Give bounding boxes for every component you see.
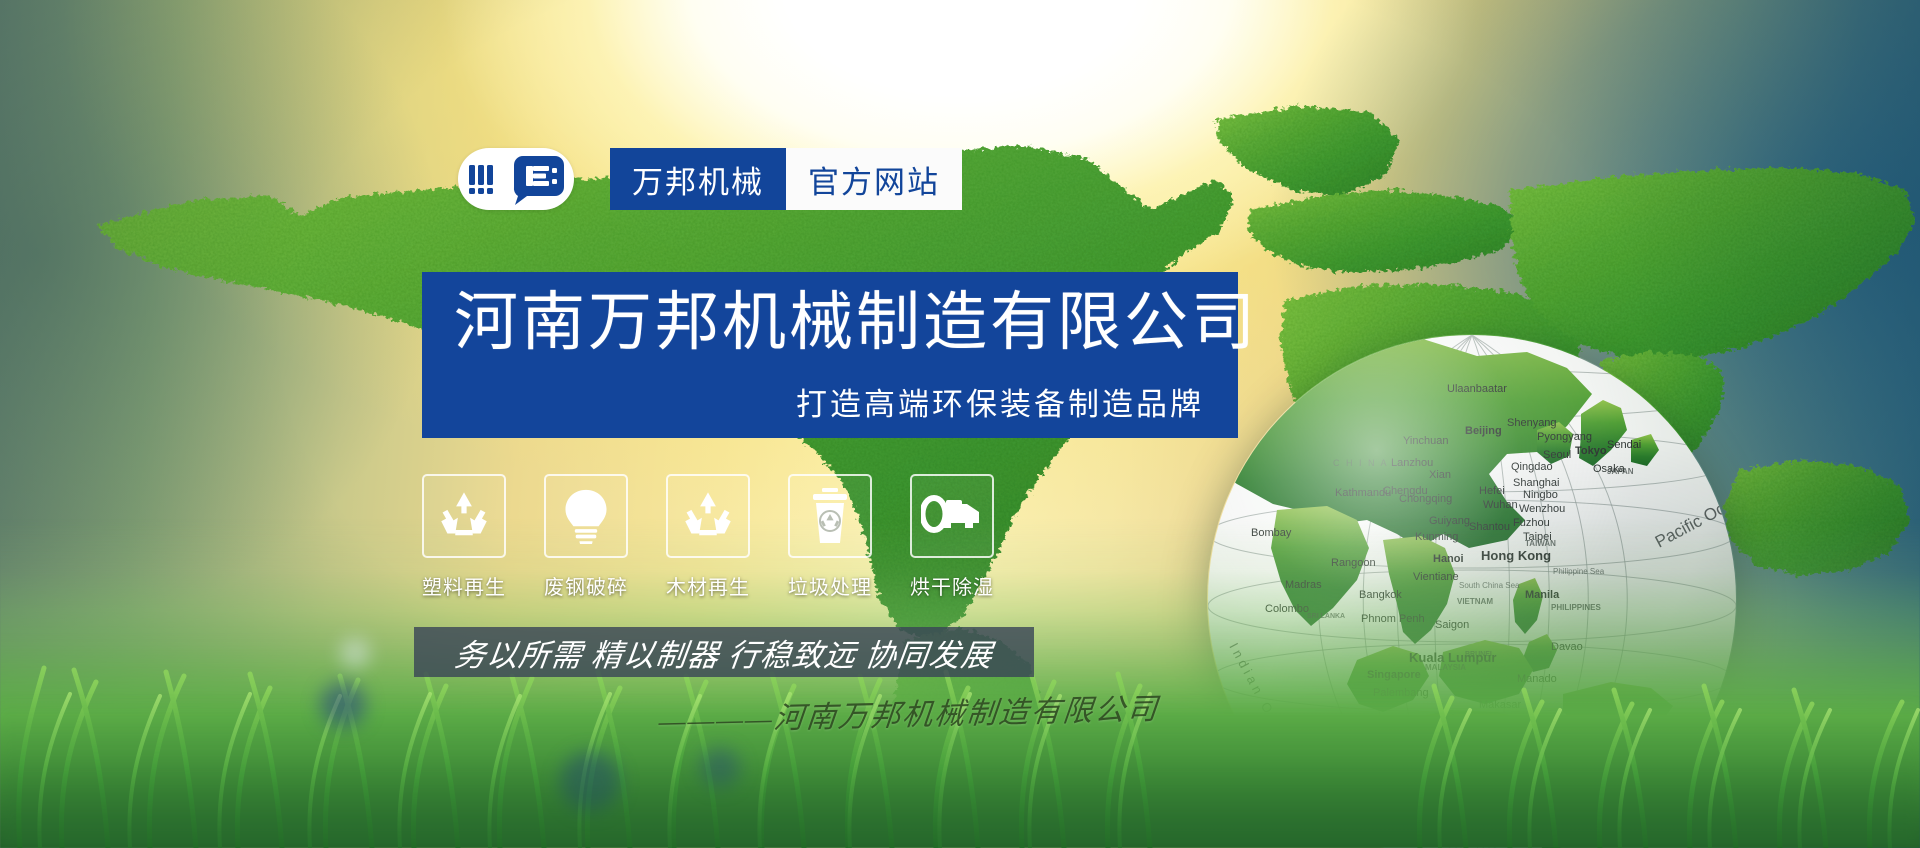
svg-text:Shanghai: Shanghai (1513, 477, 1560, 489)
brand-tabs: 万邦机械 官方网站 (610, 148, 962, 210)
trash-bin-recycle-icon (808, 487, 852, 545)
svg-text:C H I N A: C H I N A (1333, 458, 1389, 468)
svg-text:Yinchuan: Yinchuan (1403, 435, 1448, 447)
page-subtitle: 打造高端环保装备制造品牌 (796, 379, 1204, 424)
slogan-text: 务以所需 精以制器 行稳致远 协同发展 (452, 630, 996, 675)
svg-text:Osaka: Osaka (1593, 463, 1626, 475)
page-title: 河南万邦机械制造有限公司 (454, 288, 1258, 357)
svg-text:Pyongyang: Pyongyang (1537, 431, 1592, 443)
icon-frame (666, 474, 750, 558)
bokeh-dot (340, 638, 370, 668)
svg-text:Ulaanbaatar: Ulaanbaatar (1447, 383, 1507, 395)
icon-frame (544, 474, 628, 558)
hero-banner: Pacific Ocean Indian Ocean South China S… (0, 0, 1920, 848)
service-label: 垃圾处理 (788, 571, 872, 600)
svg-text:Hefei: Hefei (1479, 485, 1505, 497)
service-item-waste-treatment[interactable]: 垃圾处理 (784, 474, 876, 600)
svg-text:Sendai: Sendai (1607, 439, 1641, 451)
icon-frame (788, 474, 872, 558)
dryer-machine-icon (921, 495, 983, 537)
svg-text:Lanzhou: Lanzhou (1391, 457, 1433, 469)
service-item-plastic-recycle[interactable]: 塑料再生 (418, 474, 510, 600)
svg-text:Qingdao: Qingdao (1511, 461, 1553, 473)
hero-title-banner: 河南万邦机械制造有限公司 打造高端环保装备制造品牌 (422, 272, 1238, 438)
logo-bar: 万邦机械 官方网站 (458, 148, 962, 210)
service-label: 废钢破碎 (544, 571, 628, 600)
slogan-bar: 务以所需 精以制器 行稳致远 协同发展 (414, 627, 1034, 677)
icon-frame (910, 474, 994, 558)
tab-company[interactable]: 万邦机械 (610, 148, 786, 210)
w-mark-icon (467, 161, 507, 197)
svg-text:Wuhan: Wuhan (1483, 499, 1518, 511)
svg-text:Chongqing: Chongqing (1399, 493, 1452, 505)
svg-text:Shenyang: Shenyang (1507, 417, 1557, 429)
svg-text:Kathmandu: Kathmandu (1335, 487, 1391, 499)
service-icon-row: 塑料再生 废钢破碎 (418, 474, 998, 600)
recycle-icon (680, 488, 736, 544)
service-item-steel-crush[interactable]: 废钢破碎 (540, 474, 632, 600)
service-item-wood-recycle[interactable]: 木材再生 (662, 474, 754, 600)
b-speech-bubble-icon (509, 153, 565, 205)
lightbulb-icon (559, 488, 613, 544)
svg-text:Wenzhou: Wenzhou (1519, 503, 1565, 515)
service-label: 塑料再生 (422, 571, 506, 600)
svg-text:Tokyo: Tokyo (1575, 445, 1607, 457)
svg-text:Beijing: Beijing (1465, 425, 1502, 437)
svg-text:Ningbo: Ningbo (1523, 489, 1558, 501)
recycle-icon (436, 488, 492, 544)
company-logo-badge[interactable] (458, 148, 574, 210)
service-item-drying-dehumidify[interactable]: 烘干除湿 (906, 474, 998, 600)
service-label: 木材再生 (666, 571, 750, 600)
svg-text:Seoul: Seoul (1543, 449, 1571, 461)
service-label: 烘干除湿 (910, 571, 994, 600)
icon-frame (422, 474, 506, 558)
svg-text:Xian: Xian (1429, 469, 1451, 481)
tab-official-site[interactable]: 官方网站 (786, 148, 962, 210)
